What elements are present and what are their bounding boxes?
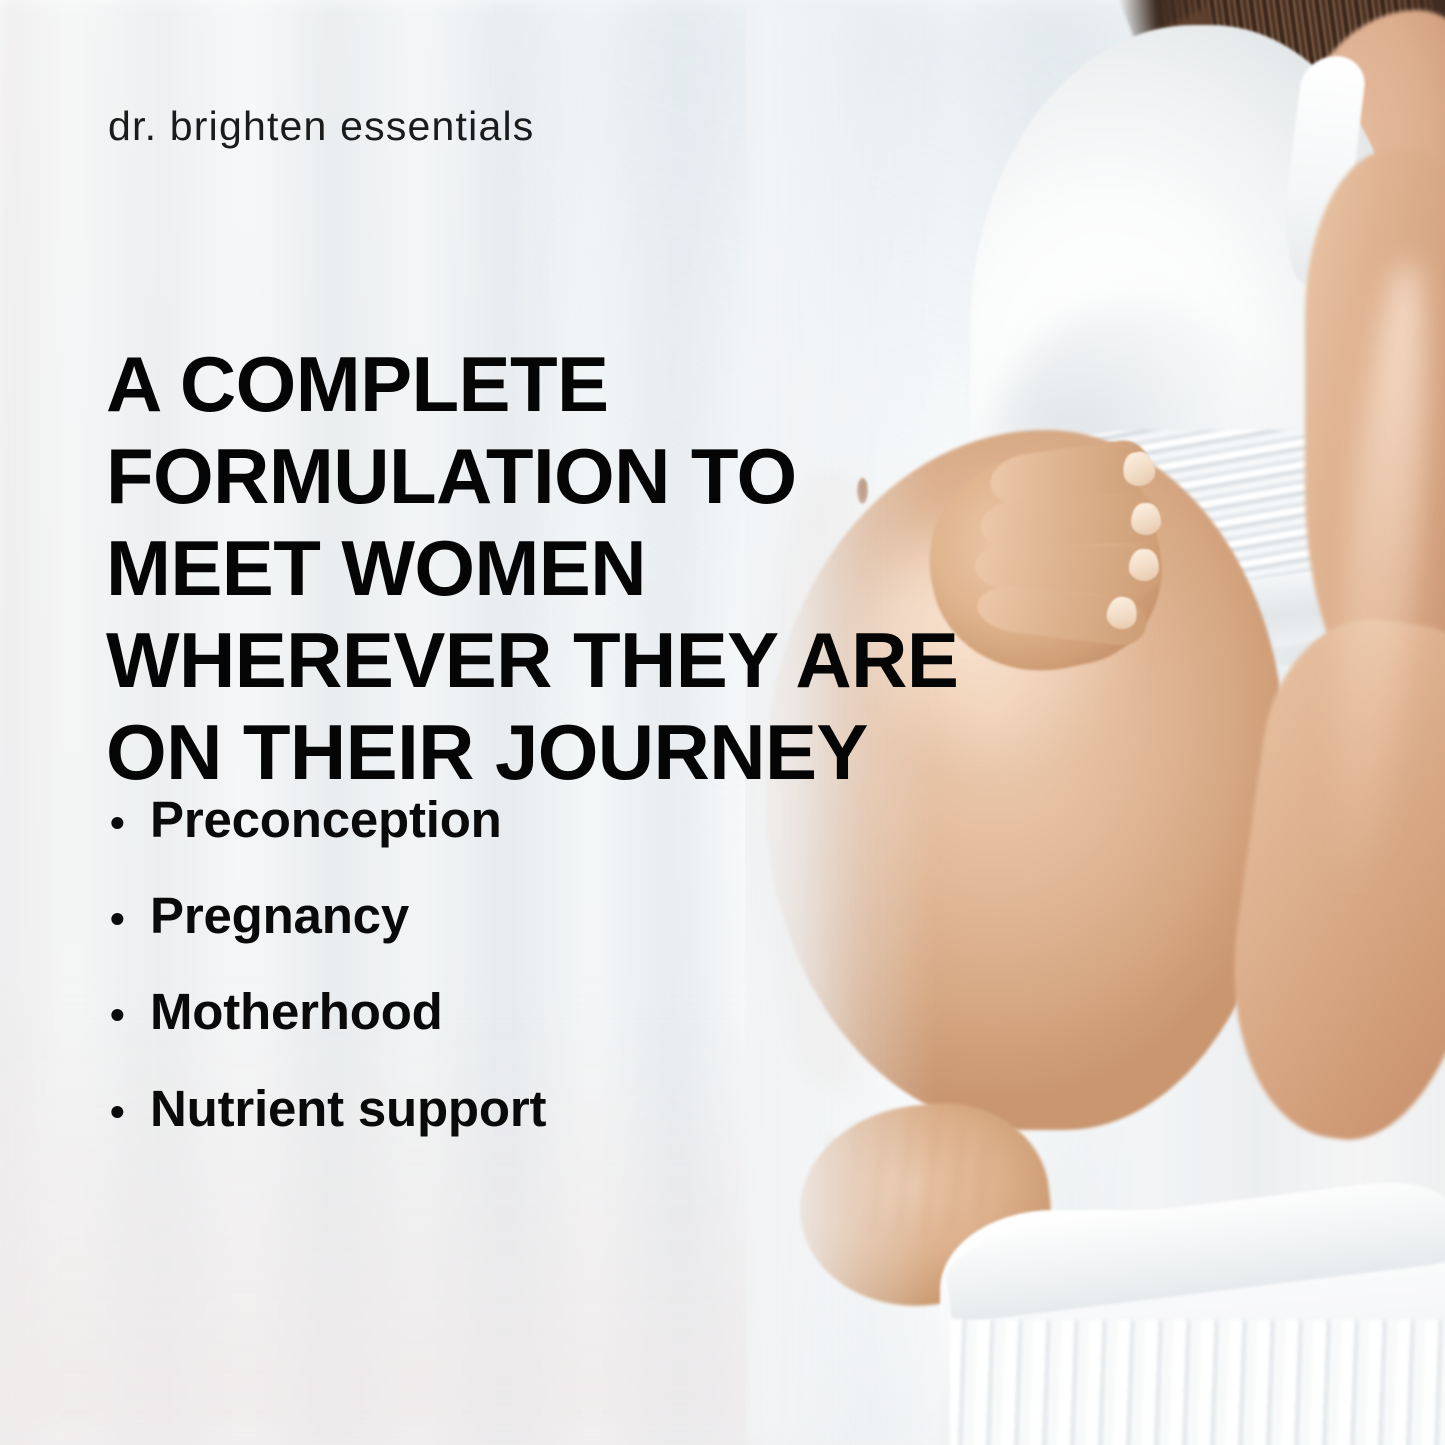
page-title: A COMPLETE FORMULATION TO MEET WOMEN WHE…: [106, 338, 976, 798]
fingernail-middle: [1130, 502, 1161, 535]
bullet-dot-icon: •: [110, 994, 150, 1036]
benefit-label-nutrient-support: Nutrient support: [150, 1079, 546, 1139]
list-item: • Preconception: [110, 790, 870, 850]
brand-wordmark: dr. brighten essentials: [108, 103, 534, 150]
benefit-label-preconception: Preconception: [150, 790, 502, 850]
benefits-list: • Preconception • Pregnancy • Motherhood…: [110, 790, 870, 1139]
bullet-dot-icon: •: [110, 802, 150, 844]
benefit-label-pregnancy: Pregnancy: [150, 886, 409, 946]
marketing-creative: dr. brighten essentials A COMPLETE FORMU…: [0, 0, 1445, 1445]
headline-line-2: FORMULATION TO: [106, 430, 976, 522]
headline-line-4: WHEREVER THEY ARE: [106, 614, 976, 706]
bullet-dot-icon: •: [110, 898, 150, 940]
benefit-label-motherhood: Motherhood: [150, 982, 443, 1042]
list-item: • Pregnancy: [110, 886, 870, 946]
skirt-pleats: [950, 1320, 1445, 1445]
bullet-dot-icon: •: [110, 1091, 150, 1133]
list-item: • Nutrient support: [110, 1079, 870, 1139]
headline-line-5: ON THEIR JOURNEY: [106, 706, 976, 798]
list-item: • Motherhood: [110, 982, 870, 1042]
headline-line-3: MEET WOMEN: [106, 522, 976, 614]
headline-line-1: A COMPLETE: [106, 338, 976, 430]
